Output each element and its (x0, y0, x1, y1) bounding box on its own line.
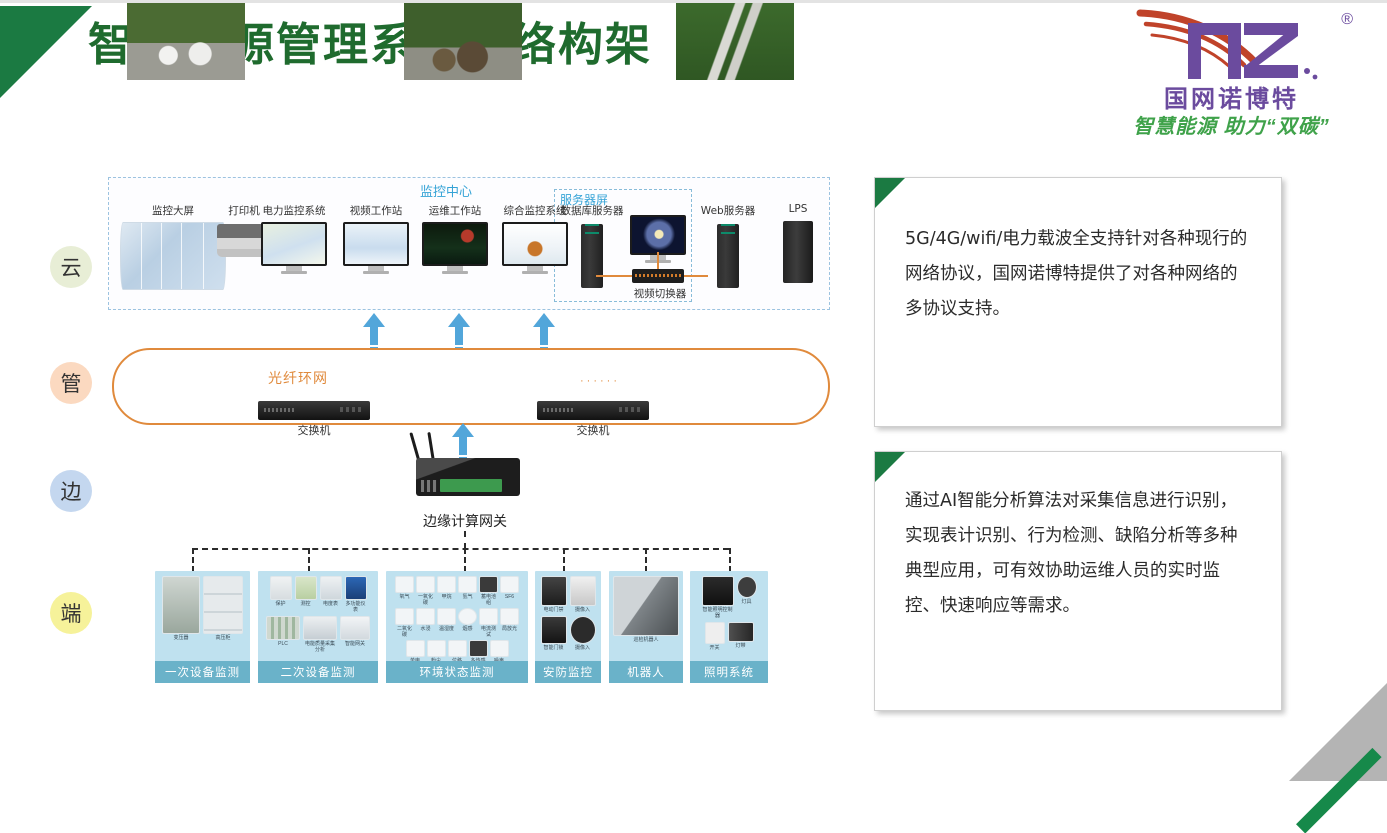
company-logo: ® 国网诺博特 智慧能源 助力“双碳” (1104, 7, 1359, 137)
edge-gateway-label: 边缘计算网关 (380, 511, 550, 531)
terminal-item: 电动门禁 (541, 576, 567, 613)
network-switch-1[interactable]: 交换机 (258, 401, 370, 438)
transformer-icon (162, 576, 200, 634)
inspection-robot-icon (613, 576, 679, 636)
tree-connector-bus (192, 548, 729, 550)
dome-camera-icon (570, 616, 596, 644)
lighting-controller-icon (702, 576, 734, 606)
terminal-item-label: 变压器 (162, 635, 200, 641)
terminal-item-label: 摄像入 (570, 607, 596, 613)
terminal-item: 智能照明控制器 (702, 576, 734, 619)
server-tower-icon (581, 224, 603, 288)
terminal-item-grid: 巡检机器人 (609, 571, 683, 657)
fiber-ring-label: 光纤环网 (268, 368, 328, 388)
registered-trademark-icon: ® (1341, 11, 1353, 29)
top-left-green-corner (0, 6, 92, 98)
monitor-icon (337, 222, 415, 274)
terminal-item-label: 电流测试 (479, 626, 498, 638)
bullet-camera-icon (570, 576, 596, 606)
switch-label: 交换机 (258, 422, 370, 438)
terminal-item: 保护 (270, 576, 292, 613)
terminal-item: 一氧化碳 (416, 576, 435, 606)
terminal-item-label: PLC (266, 641, 300, 647)
terminal-item-label: 电能质量采集分析 (303, 641, 337, 653)
server-tower-icon (717, 224, 739, 288)
card-corner-triangle (875, 178, 905, 208)
terminal-group-primary-equipment[interactable]: 变压器 高压柜 一次设备监测 (155, 571, 250, 683)
switch-label: 交换机 (537, 422, 649, 438)
terminal-item: 烟感 (458, 608, 477, 638)
terminal-item-grid: 氧气 一氧化碳 甲烷 氢气 蓄电池组 SF6 二氧化碳 水浸 温湿度 烟感 电流… (386, 571, 528, 657)
terminal-group-secondary-equipment[interactable]: 保护 测控 电度表 多功能仪表 PLC 电能质量采集分析 智能网关 二次设备监测 (258, 571, 378, 683)
ups-cabinet-icon (783, 221, 813, 283)
tree-connector-drop (563, 548, 565, 572)
carbon-dioxide-sensor-icon (395, 608, 414, 625)
ring-ellipsis: ······ (580, 375, 620, 387)
water-leak-sensor-icon (416, 608, 435, 625)
terminal-item-label: 电动门禁 (541, 607, 567, 613)
terminal-item-label: 烟感 (458, 626, 477, 632)
smart-door-lock-icon (541, 616, 567, 644)
sf6-sensor-icon (500, 576, 519, 593)
terminal-item-label: 一氧化碳 (416, 594, 435, 606)
logo-mark-icon (1132, 7, 1332, 85)
electric-door-access-icon (541, 576, 567, 606)
terminal-group-environment-monitoring[interactable]: 氧气 一氧化碳 甲烷 氢气 蓄电池组 SF6 二氧化碳 水浸 温湿度 烟感 电流… (386, 571, 528, 683)
card-text: 5G/4G/wifi/电力载波全支持针对各种现行的网络协议，国网诺博特提供了对各… (875, 178, 1281, 347)
terminal-item: 灯具 (737, 576, 757, 619)
terminal-item: 温湿度 (437, 608, 456, 638)
terminal-item-label: 智能网关 (340, 641, 370, 647)
terminal-item-label: 温湿度 (437, 626, 456, 632)
terminal-group-robot[interactable]: 巡检机器人 机器人 (609, 571, 683, 683)
terminal-item-label: 水浸 (416, 626, 435, 632)
road-photo (676, 3, 794, 80)
terminal-item-label: 灯带 (728, 643, 754, 649)
terminal-item-grid: 智能照明控制器 灯具 开关 灯带 (690, 571, 768, 657)
level-badge-network: 管 (50, 362, 92, 404)
video-switcher-icon (632, 269, 684, 283)
terminal-item: 水浸 (416, 608, 435, 638)
terminal-group-security-monitoring[interactable]: 电动门禁 摄像入 智能门锁 摄像入 安防监控 (535, 571, 601, 683)
carbon-monoxide-sensor-icon (416, 576, 435, 593)
terminal-item: 变压器 (162, 576, 200, 641)
terminal-item-label: 开关 (705, 645, 725, 651)
terminal-item-label: 氧气 (395, 594, 414, 600)
terminal-item: 智能门锁 (541, 616, 567, 651)
tree-connector-drop (308, 548, 310, 572)
terminal-item: 开关 (705, 622, 725, 651)
device-power-monitoring-system[interactable]: 电力监控系统 (255, 203, 333, 274)
video-switcher-label: 视频切换器 (608, 286, 712, 301)
terminal-item-label: SF6 (500, 594, 519, 600)
lamp-icon (737, 576, 757, 598)
network-switch-2[interactable]: 交换机 (537, 401, 649, 438)
tree-connector-drop (464, 548, 466, 572)
device-web-server[interactable]: Web服务器 (695, 203, 761, 288)
dust-sensor-icon (427, 640, 446, 657)
terminal-item-label: 智能照明控制器 (702, 607, 734, 619)
terminal-group-title: 一次设备监测 (155, 661, 250, 683)
terminal-item: 巡检机器人 (613, 576, 679, 643)
device-label: 视频工作站 (337, 203, 415, 218)
terminal-group-title: 安防监控 (535, 661, 601, 683)
tunnel-photo (127, 3, 245, 80)
temperature-humidity-sensor-icon (437, 608, 456, 625)
terminal-item: 灯带 (728, 622, 754, 651)
device-label: 数据库服务器 (556, 203, 628, 218)
edge-gateway-icon[interactable] (408, 458, 520, 496)
terminal-item: 氢气 (458, 576, 477, 606)
terminal-item-label: 电度表 (320, 601, 342, 607)
tree-connector-trunk (464, 531, 466, 549)
noise-sensor-icon (490, 640, 509, 657)
tunnel-photo (404, 3, 522, 80)
terminal-item: 蓄电池组 (479, 576, 498, 606)
battery-pack-icon (479, 576, 498, 593)
terminal-group-title: 环境状态监测 (386, 661, 528, 683)
terminal-item-label: 摄像入 (570, 645, 596, 651)
terminal-item-grid: 保护 测控 电度表 多功能仪表 PLC 电能质量采集分析 智能网关 (258, 571, 378, 657)
terminal-item: 智能网关 (340, 616, 370, 653)
terminal-item-label: 巡检机器人 (613, 637, 679, 643)
terminal-item: 甲烷 (437, 576, 456, 606)
logo-slogan: 智慧能源 助力“双碳” (1104, 110, 1359, 139)
energy-meter-icon (320, 576, 342, 600)
methane-sensor-icon (437, 576, 456, 593)
tree-connector-drop (645, 548, 647, 572)
plc-icon (266, 616, 300, 640)
terminal-item-label: 智能门锁 (541, 645, 567, 651)
terminal-item: 电能质量采集分析 (303, 616, 337, 653)
hydrogen-sensor-icon (458, 576, 477, 593)
arrow-edge-to-network (452, 423, 474, 463)
terminal-group-title: 二次设备监测 (258, 661, 378, 683)
terminal-item: 摄像入 (570, 616, 596, 651)
terminal-item-label: 甲烷 (437, 594, 456, 600)
switch-panel-icon (705, 622, 725, 644)
device-label: 电力监控系统 (255, 203, 333, 218)
terminal-item: 高压柜 (203, 576, 243, 641)
terminal-item: 电流测试 (479, 608, 498, 638)
level-badge-edge: 边 (50, 470, 92, 512)
smoke-detector-icon (458, 608, 477, 625)
multi-sensor-temperature-icon (469, 640, 488, 657)
switch-icon (537, 401, 649, 420)
terminal-item: 电度表 (320, 576, 342, 613)
terminal-item-label: 局放光 (500, 626, 519, 632)
oxygen-sensor-icon (395, 576, 414, 593)
device-lps[interactable]: LPS (772, 203, 824, 283)
network-protocol-card: 5G/4G/wifi/电力载波全支持针对各种现行的网络协议，国网诺博特提供了对各… (874, 177, 1282, 427)
monitoring-center-label: 监控中心 (420, 181, 472, 200)
terminal-group-lighting-system[interactable]: 智能照明控制器 灯具 开关 灯带 照明系统 (690, 571, 768, 683)
logo-company-name: 国网诺博特 (1104, 79, 1359, 114)
terminal-item-label: 测控 (295, 601, 317, 607)
fiber-ring-network (112, 348, 830, 425)
terminal-item: 局放光 (500, 608, 519, 638)
switchgear-icon (203, 576, 243, 634)
terminal-item: 摄像入 (570, 576, 596, 613)
arrow-network-to-cloud (533, 313, 555, 353)
card-corner-triangle (875, 452, 905, 482)
device-ops-workstation[interactable]: 运维工作站 (416, 203, 494, 274)
arrow-network-to-cloud (448, 313, 470, 353)
terminal-item-label: 灯具 (737, 599, 757, 605)
single-power-sensor-icon (406, 640, 425, 657)
light-strip-icon (728, 622, 754, 642)
terminal-group-title: 照明系统 (690, 661, 768, 683)
card-text: 通过AI智能分析算法对采集信息进行识别，实现表计识别、行为检测、缺陷分析等多种典… (875, 452, 1281, 644)
terminal-item-grid: 变压器 高压柜 (155, 571, 250, 657)
terminal-item-label: 保护 (270, 601, 292, 607)
terminal-group-title: 机器人 (609, 661, 683, 683)
device-label: LPS (772, 203, 824, 215)
switch-icon (258, 401, 370, 420)
terminal-item: 二氧化碳 (395, 608, 414, 638)
level-badge-cloud: 云 (50, 246, 92, 288)
tree-connector-drop (729, 548, 731, 572)
device-label: Web服务器 (695, 203, 761, 218)
monitor-icon (255, 222, 333, 274)
relay-icon (270, 576, 292, 600)
terminal-item: SF6 (500, 576, 519, 606)
partial-discharge-sensor-icon (500, 608, 519, 625)
smart-gateway-icon (340, 616, 370, 640)
terminal-item-grid: 电动门禁 摄像入 智能门锁 摄像入 (535, 571, 601, 657)
slide-canvas: 智慧能源管理系统网络构架 ® 国网诺博特 智慧能源 助力“双碳” 云 管 边 端… (0, 0, 1387, 781)
monitor-icon (416, 222, 494, 274)
device-video-workstation[interactable]: 视频工作站 (337, 203, 415, 274)
displacement-sensor-icon (448, 640, 467, 657)
terminal-item: PLC (266, 616, 300, 653)
terminal-item: 测控 (295, 576, 317, 613)
current-tester-icon (479, 608, 498, 625)
level-badge-terminal: 端 (50, 592, 92, 634)
arrow-network-to-cloud (363, 313, 385, 353)
terminal-item-label: 多功能仪表 (345, 601, 367, 613)
terminal-item-label: 氢气 (458, 594, 477, 600)
terminal-item-label: 蓄电池组 (479, 594, 498, 606)
device-label: 运维工作站 (416, 203, 494, 218)
tree-connector-drop (192, 548, 194, 572)
measurement-unit-icon (295, 576, 317, 600)
power-quality-analyzer-icon (303, 616, 337, 640)
terminal-item: 氧气 (395, 576, 414, 606)
terminal-item: 多功能仪表 (345, 576, 367, 613)
terminal-item-label: 二氧化碳 (395, 626, 414, 638)
terminal-item-label: 高压柜 (203, 635, 243, 641)
ai-analysis-card: 通过AI智能分析算法对采集信息进行识别，实现表计识别、行为检测、缺陷分析等多种典… (874, 451, 1282, 711)
multifunction-meter-icon (345, 576, 367, 600)
